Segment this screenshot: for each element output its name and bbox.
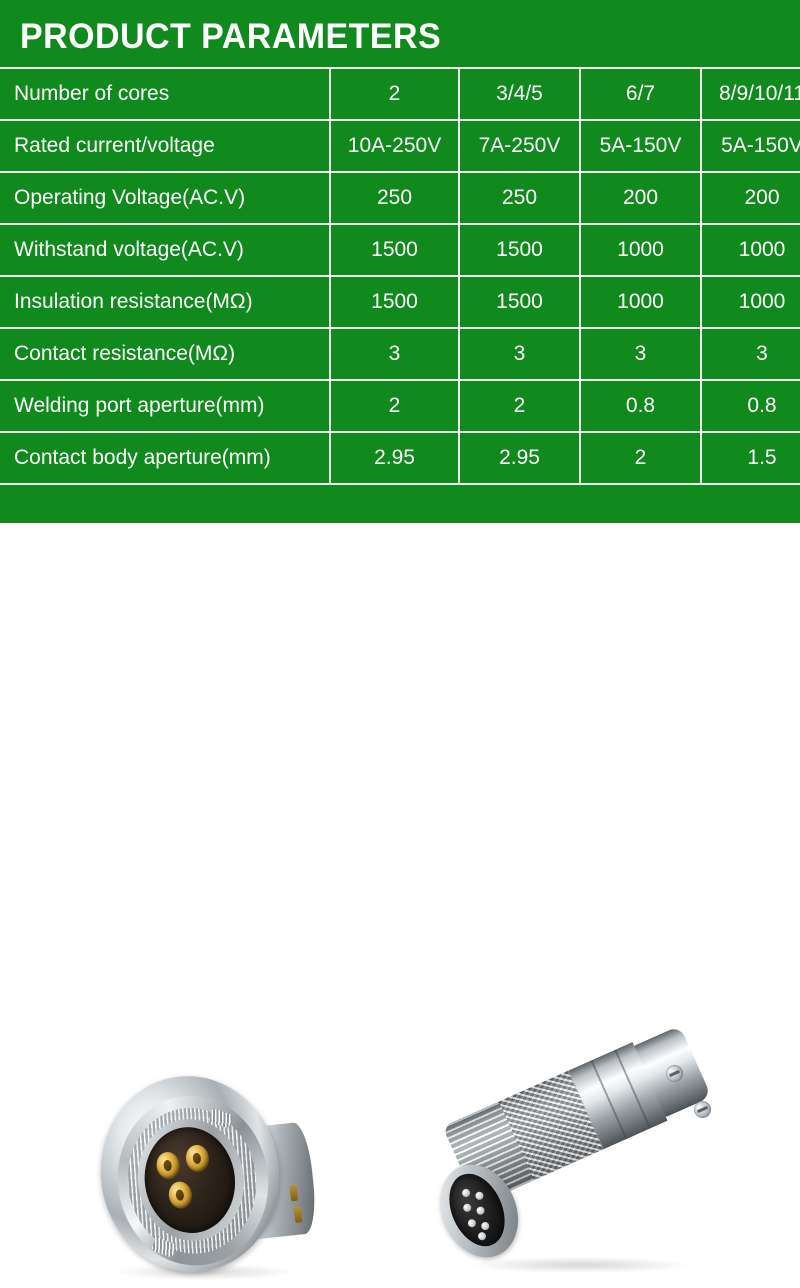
table-row: Contact resistance(MΩ) 3 3 3 3 (0, 328, 800, 380)
row-label: Withstand voltage(AC.V) (0, 224, 330, 276)
table-row: Contact body aperture(mm) 2.95 2.95 2 1.… (0, 432, 800, 484)
cell-value: 5A-150V (701, 120, 800, 172)
cell-value: 1000 (701, 276, 800, 328)
table-row: Withstand voltage(AC.V) 1500 1500 1000 1… (0, 224, 800, 276)
product-image-male-cable-connector (430, 1071, 750, 1286)
plug-drop-shadow (470, 1257, 690, 1273)
cell-value: 1500 (330, 224, 459, 276)
plug-pin (467, 1218, 478, 1229)
cell-value: 1500 (459, 276, 580, 328)
cell-value: 250 (459, 172, 580, 224)
product-image-panel-mount-socket (95, 1068, 335, 1288)
cell-value: 0.8 (580, 380, 701, 432)
cell-value: 200 (580, 172, 701, 224)
row-label: Rated current/voltage (0, 120, 330, 172)
row-label: Contact body aperture(mm) (0, 432, 330, 484)
cell-value: 3 (330, 328, 459, 380)
product-photos (0, 523, 800, 800)
cell-value: 2.95 (459, 432, 580, 484)
cell-value: 7A-250V (459, 120, 580, 172)
row-label: Welding port aperture(mm) (0, 380, 330, 432)
cell-value: 250 (330, 172, 459, 224)
cell-value: 1000 (580, 224, 701, 276)
table-row: Rated current/voltage 10A-250V 7A-250V 5… (0, 120, 800, 172)
plug-pin (462, 1202, 473, 1213)
product-parameters-panel: PRODUCT PARAMETERS Number of cores 2 3/4… (0, 0, 800, 523)
cell-value: 1000 (580, 276, 701, 328)
row-label: Contact resistance(MΩ) (0, 328, 330, 380)
table-row: Operating Voltage(AC.V) 250 250 200 200 (0, 172, 800, 224)
socket-mounting-flange (88, 1065, 292, 1284)
cell-value: 5A-150V (580, 120, 701, 172)
row-label: Number of cores (0, 68, 330, 120)
cell-value: 3/4/5 (459, 68, 580, 120)
row-label: Insulation resistance(MΩ) (0, 276, 330, 328)
plug-pin (480, 1221, 491, 1232)
plug-pin (475, 1205, 486, 1216)
table-row: Welding port aperture(mm) 2 2 0.8 0.8 (0, 380, 800, 432)
plug-pin (461, 1188, 472, 1199)
cell-value: 1500 (459, 224, 580, 276)
page-title: PRODUCT PARAMETERS (20, 17, 441, 57)
plug-pin (474, 1191, 485, 1202)
cell-value: 1.5 (701, 432, 800, 484)
cell-value: 2.95 (330, 432, 459, 484)
socket-solder-tab (289, 1185, 298, 1202)
cell-value: 6/7 (580, 68, 701, 120)
cell-value: 2 (459, 380, 580, 432)
cell-value: 0.8 (701, 380, 800, 432)
product-parameters-table: Number of cores 2 3/4/5 6/7 8/9/10/11 Ra… (0, 67, 800, 485)
cell-value: 2 (330, 68, 459, 120)
cell-value: 3 (580, 328, 701, 380)
cell-value: 3 (459, 328, 580, 380)
cell-value: 1500 (330, 276, 459, 328)
cell-value: 1000 (701, 224, 800, 276)
table-body: Number of cores 2 3/4/5 6/7 8/9/10/11 Ra… (0, 68, 800, 484)
row-label: Operating Voltage(AC.V) (0, 172, 330, 224)
socket-solder-tab (294, 1206, 303, 1223)
cell-value: 3 (701, 328, 800, 380)
plug-pin (477, 1231, 488, 1242)
table-row: Insulation resistance(MΩ) 1500 1500 1000… (0, 276, 800, 328)
cell-value: 8/9/10/11 (701, 68, 800, 120)
table-row: Number of cores 2 3/4/5 6/7 8/9/10/11 (0, 68, 800, 120)
cell-value: 2 (330, 380, 459, 432)
cell-value: 10A-250V (330, 120, 459, 172)
cell-value: 2 (580, 432, 701, 484)
cell-value: 200 (701, 172, 800, 224)
